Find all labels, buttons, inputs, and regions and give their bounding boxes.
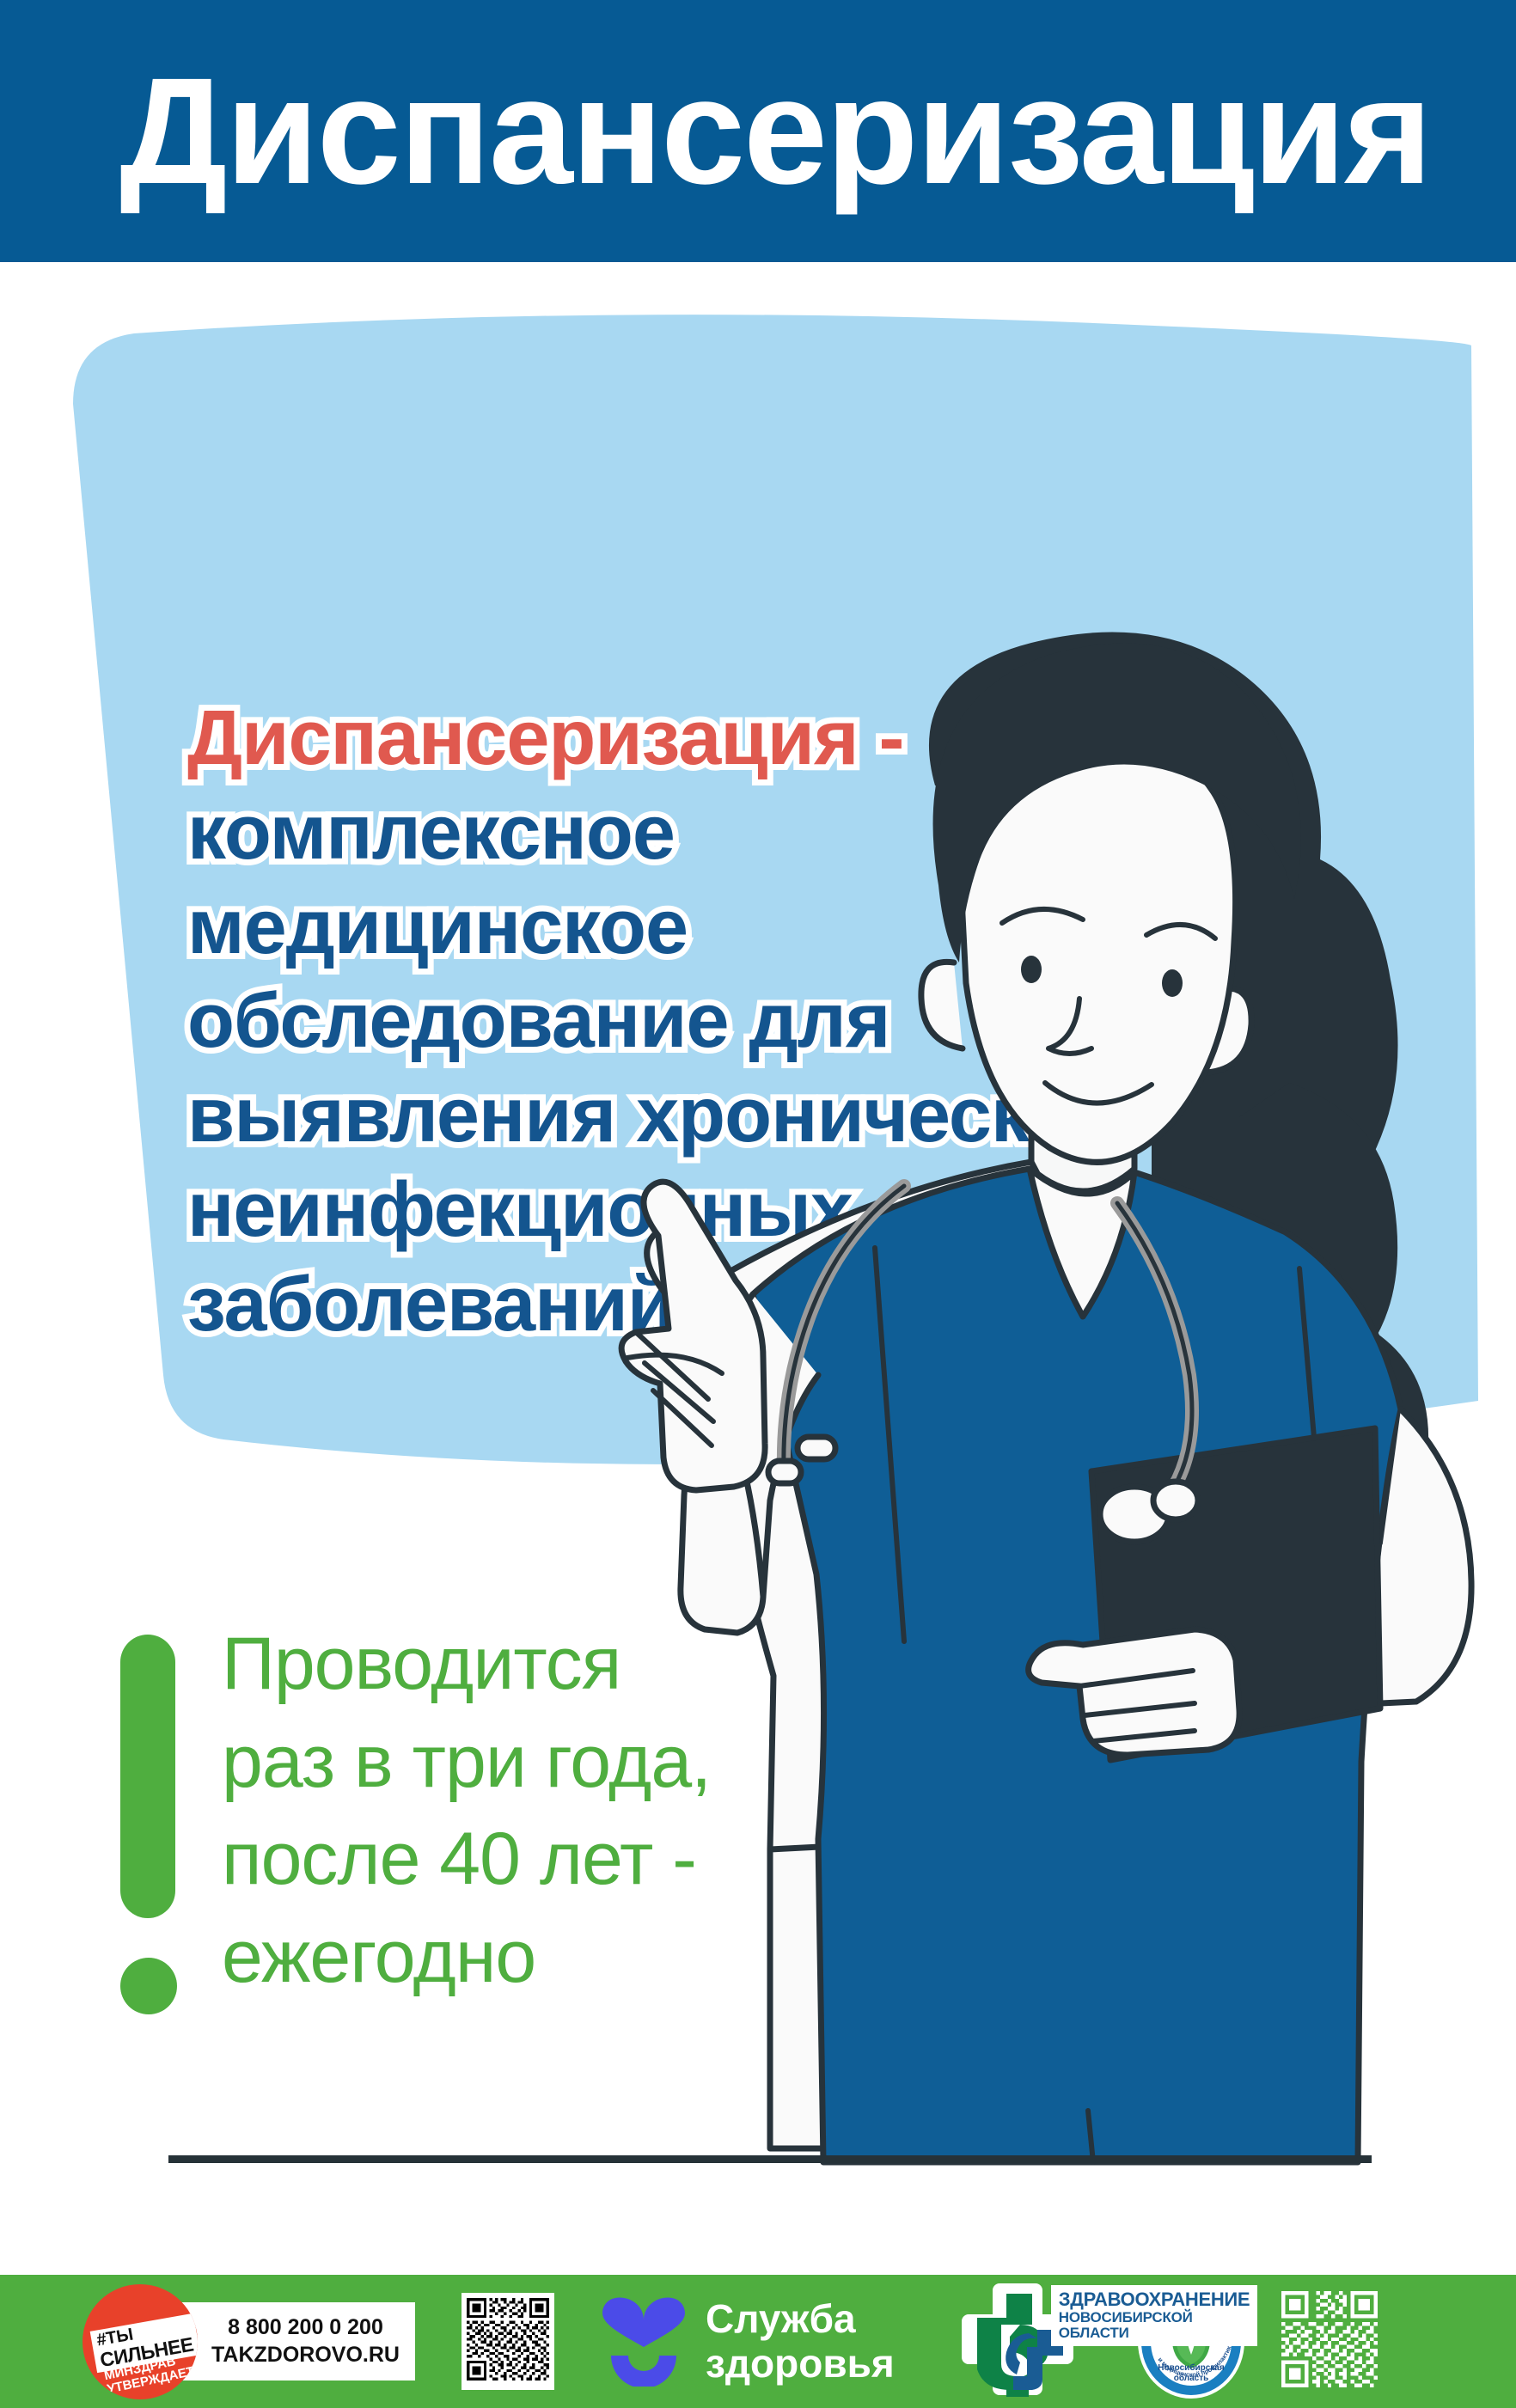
footer-bar: #ТЫ СИЛЬНЕЕ МИНЗДРАВ УТВЕРЖДАЕТ! 8 800 2…: [0, 2275, 1516, 2408]
ministry-line-2: НОВОСИБИРСКОЙ ОБЛАСТИ: [1059, 2310, 1250, 2342]
takzdorovo-badge[interactable]: #ТЫ СИЛЬНЕЕ МИНЗДРАВ УТВЕРЖДАЕТ! 8 800 2…: [83, 2284, 415, 2399]
hotline-site: TAKZDOROVO.RU: [211, 2342, 400, 2368]
page-title: Диспансеризация: [85, 56, 1431, 207]
takzdorovo-contact: 8 800 200 0 200 TAKZDOROVO.RU: [174, 2302, 415, 2380]
service-line-1: Служба: [706, 2297, 895, 2342]
frequency-line-3: после 40 лет -: [222, 1811, 995, 1909]
frequency-text: Проводится раз в три года, после 40 лет …: [222, 1616, 995, 2006]
ground-line-divider: [168, 2155, 1372, 2163]
qr-code-icon: [467, 2298, 549, 2380]
qr-code-icon: [1281, 2291, 1378, 2387]
frequency-line-2: раз в три года,: [222, 1714, 995, 1812]
sluzhba-zdorovya-text: Служба здоровья: [706, 2297, 895, 2386]
qr-code-takzdorovo[interactable]: [462, 2293, 554, 2390]
bullet-bar: [120, 1635, 175, 1918]
header-banner: Диспансеризация: [0, 0, 1516, 262]
ministry-logo-block: ЗДРАВООХРАНЕНИЕ НОВОСИБИРСКОЙ ОБЛАСТИ: [962, 2280, 1084, 2404]
sluzhba-zdorovya-logo: [602, 2297, 685, 2387]
seal-center-2: область: [1173, 2373, 1208, 2383]
bullet-dot: [120, 1958, 177, 2014]
seal-center-1: Новосибирская: [1158, 2362, 1225, 2373]
hotline-phone: 8 800 200 0 200: [211, 2314, 400, 2341]
ministry-line-1: ЗДРАВООХРАНЕНИЕ: [1059, 2289, 1250, 2310]
frequency-line-4: ежегодно: [222, 1909, 995, 2007]
frequency-line-1: Проводится: [222, 1616, 995, 1714]
tysilnee-logo-icon: #ТЫ СИЛЬНЕЕ МИНЗДРАВ УТВЕРЖДАЕТ!: [83, 2284, 198, 2399]
heart-smile-icon: [602, 2297, 685, 2387]
service-line-2: здоровья: [706, 2342, 895, 2387]
qr-code-regional[interactable]: [1281, 2291, 1378, 2392]
